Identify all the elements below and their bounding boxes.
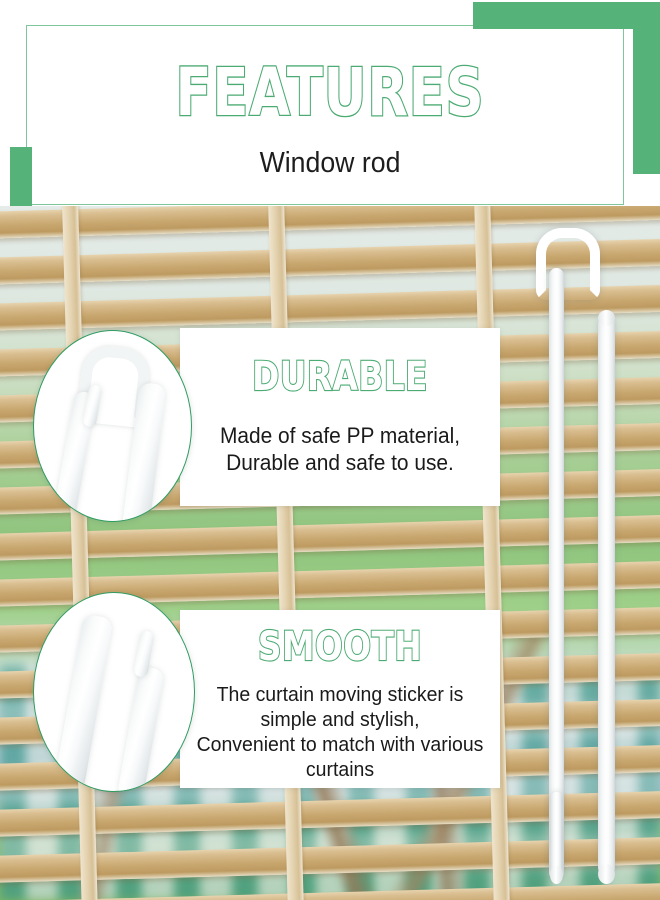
page-title: FEATURES (66, 56, 594, 130)
header-banner: FEATURES Window rod (0, 0, 660, 206)
curtain-rod-plain-top-cap (598, 310, 615, 326)
feature-card-durable: DURABLE Made of safe PP material, Durabl… (180, 328, 500, 506)
window-blinds-background (0, 206, 660, 900)
feature-body-smooth-line-4: curtains (188, 757, 492, 782)
curtain-rod-plain (598, 316, 615, 876)
page-subtitle: Window rod (26, 146, 633, 180)
feature-card-smooth: SMOOTH The curtain moving sticker is sim… (180, 610, 500, 788)
feature-body-smooth-line-3: Convenient to match with various (188, 732, 492, 757)
curtain-rod-hook-tip (550, 866, 563, 884)
curtain-rod-hook-lower-shaft (551, 792, 562, 876)
feature-body-smooth-line-1: The curtain moving sticker is (188, 682, 492, 707)
product-infographic: FEATURES Window rod DURABLE Made of safe… (0, 0, 660, 900)
curtain-rod-with-hook (549, 268, 564, 880)
feature-title-durable: DURABLE (209, 354, 471, 400)
inset-circle-durable (33, 330, 192, 522)
feature-body-durable-line-2: Durable and safe to use. (188, 449, 492, 476)
rod-shaft-thin (117, 666, 166, 792)
blind-slat (0, 881, 660, 900)
feature-body-smooth-line-2: simple and stylish, (188, 707, 492, 732)
feature-body-durable-line-1: Made of safe PP material, (188, 422, 492, 449)
curtain-rod-hook-top (536, 228, 600, 300)
curtain-rod-plain-tip (598, 864, 615, 884)
rod-shaft-thick (52, 614, 113, 792)
corner-bracket-top-right-vertical (633, 2, 660, 174)
inset-circle-smooth (33, 592, 195, 792)
feature-title-smooth: SMOOTH (209, 624, 471, 670)
corner-bracket-top-right-horizontal (473, 2, 660, 29)
